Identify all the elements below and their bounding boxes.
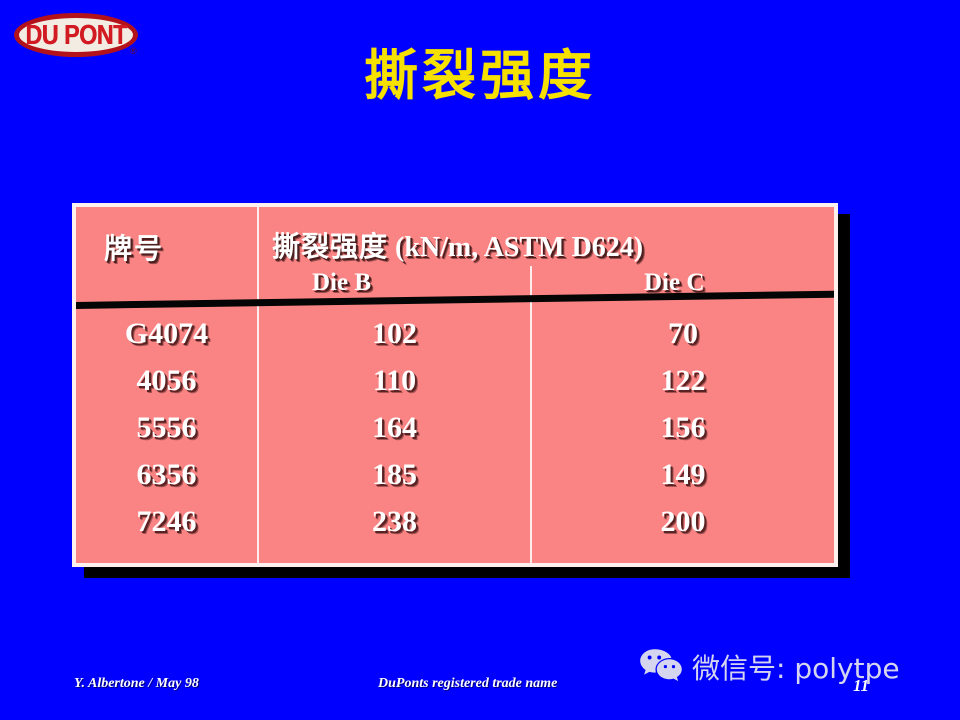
table-row: 6356 185 149 bbox=[76, 458, 834, 505]
wechat-watermark: 微信号: polytpe bbox=[639, 648, 900, 689]
cell-die-c: 122 bbox=[532, 364, 834, 398]
table-row: 5556 164 156 bbox=[76, 411, 834, 458]
column-header-tear-strength-units: (kN/m, ASTM D624) bbox=[388, 232, 643, 263]
cell-grade: 7246 bbox=[76, 505, 257, 539]
table-header-rule bbox=[72, 290, 838, 309]
column-header-die-c: Die C bbox=[644, 269, 704, 297]
footer-author: Y. Albertone / May 98 bbox=[74, 676, 199, 692]
data-table: 牌号 撕裂强度 (kN/m, ASTM D624) Die B Die C G4… bbox=[72, 203, 838, 567]
cell-die-c: 200 bbox=[532, 505, 834, 539]
column-header-tear-strength: 撕裂强度 (kN/m, ASTM D624) bbox=[272, 225, 643, 265]
cell-grade: 4056 bbox=[76, 364, 257, 398]
wechat-id-text: 微信号: polytpe bbox=[692, 655, 900, 683]
page-title: 撕裂强度 bbox=[0, 48, 960, 105]
table-row: 4056 110 122 bbox=[76, 364, 834, 411]
cell-die-b: 185 bbox=[259, 458, 530, 492]
cell-grade: 5556 bbox=[76, 411, 257, 445]
cell-die-c: 149 bbox=[532, 458, 834, 492]
cell-grade: G4074 bbox=[76, 317, 257, 351]
cell-die-c: 70 bbox=[532, 317, 834, 351]
cell-grade: 6356 bbox=[76, 458, 257, 492]
column-header-tear-strength-cjk: 撕裂强度 bbox=[272, 230, 388, 263]
table-body: G4074 102 70 4056 110 122 5556 164 156 6… bbox=[76, 317, 834, 552]
column-header-grade: 牌号 bbox=[104, 227, 164, 267]
table-row: G4074 102 70 bbox=[76, 317, 834, 364]
cell-die-b: 110 bbox=[259, 364, 530, 398]
cell-die-b: 238 bbox=[259, 505, 530, 539]
slide-canvas: DU PONT ® 撕裂强度 牌号 撕裂强度 (kN/m, ASTM D624)… bbox=[0, 0, 960, 720]
cell-die-b: 102 bbox=[259, 317, 530, 351]
cell-die-b: 164 bbox=[259, 411, 530, 445]
wechat-icon bbox=[639, 648, 683, 689]
table-row: 7246 238 200 bbox=[76, 505, 834, 552]
footer-trademark-note: DuPonts registered trade name bbox=[378, 676, 557, 692]
cell-die-c: 156 bbox=[532, 411, 834, 445]
column-header-die-b: Die B bbox=[312, 269, 371, 297]
